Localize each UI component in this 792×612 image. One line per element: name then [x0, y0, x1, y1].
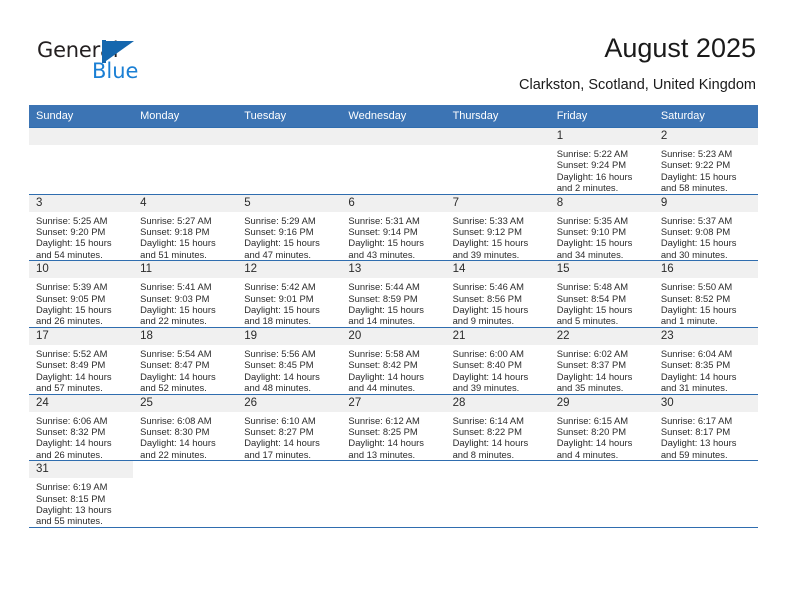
calendar-day-cell[interactable]: 31Sunrise: 6:19 AMSunset: 8:15 PMDayligh… — [29, 461, 133, 528]
calendar-week-row: 31Sunrise: 6:19 AMSunset: 8:15 PMDayligh… — [29, 461, 758, 528]
day-details: Sunrise: 6:15 AMSunset: 8:20 PMDaylight:… — [550, 412, 654, 461]
detail-daylight-line2: and 44 minutes. — [348, 382, 439, 393]
day-number — [133, 128, 237, 145]
calendar-cell-empty — [29, 128, 133, 195]
day-number: 10 — [29, 261, 133, 278]
detail-daylight-line1: Daylight: 14 hours — [36, 371, 127, 382]
calendar-day-cell[interactable]: 18Sunrise: 5:54 AMSunset: 8:47 PMDayligh… — [133, 327, 237, 394]
day-cell-content: 16Sunrise: 5:50 AMSunset: 8:52 PMDayligh… — [654, 261, 758, 327]
day-number: 24 — [29, 395, 133, 412]
detail-sunrise: Sunrise: 6:14 AM — [453, 415, 544, 426]
detail-sunrise: Sunrise: 5:29 AM — [244, 215, 335, 226]
calendar-day-cell[interactable]: 28Sunrise: 6:14 AMSunset: 8:22 PMDayligh… — [446, 394, 550, 461]
detail-daylight-line1: Daylight: 14 hours — [140, 437, 231, 448]
calendar-day-cell[interactable]: 4Sunrise: 5:27 AMSunset: 9:18 PMDaylight… — [133, 194, 237, 261]
calendar-week-row: 17Sunrise: 5:52 AMSunset: 8:49 PMDayligh… — [29, 327, 758, 394]
day-cell-content: 2Sunrise: 5:23 AMSunset: 9:22 PMDaylight… — [654, 128, 758, 194]
calendar-day-cell[interactable]: 20Sunrise: 5:58 AMSunset: 8:42 PMDayligh… — [341, 327, 445, 394]
detail-sunrise: Sunrise: 5:35 AM — [557, 215, 648, 226]
day-number: 14 — [446, 261, 550, 278]
day-number: 28 — [446, 395, 550, 412]
general-blue-logo[interactable]: General Blue — [37, 38, 237, 86]
calendar-body: 1Sunrise: 5:22 AMSunset: 9:24 PMDaylight… — [29, 128, 758, 528]
detail-daylight-line2: and 26 minutes. — [36, 449, 127, 460]
detail-sunset: Sunset: 8:22 PM — [453, 426, 544, 437]
day-details: Sunrise: 5:35 AMSunset: 9:10 PMDaylight:… — [550, 212, 654, 261]
day-number: 19 — [237, 328, 341, 345]
calendar-cell-empty — [446, 461, 550, 528]
calendar-day-cell[interactable]: 3Sunrise: 5:25 AMSunset: 9:20 PMDaylight… — [29, 194, 133, 261]
day-cell-content: 7Sunrise: 5:33 AMSunset: 9:12 PMDaylight… — [446, 195, 550, 261]
calendar-day-cell[interactable]: 1Sunrise: 5:22 AMSunset: 9:24 PMDaylight… — [550, 128, 654, 195]
detail-daylight-line2: and 8 minutes. — [453, 449, 544, 460]
day-cell-content: 25Sunrise: 6:08 AMSunset: 8:30 PMDayligh… — [133, 395, 237, 461]
calendar-cell-empty — [341, 128, 445, 195]
detail-sunrise: Sunrise: 5:22 AM — [557, 148, 648, 159]
detail-sunrise: Sunrise: 5:33 AM — [453, 215, 544, 226]
weekday-header-row: SundayMondayTuesdayWednesdayThursdayFrid… — [29, 105, 758, 128]
detail-daylight-line1: Daylight: 16 hours — [557, 171, 648, 182]
detail-sunrise: Sunrise: 6:19 AM — [36, 481, 127, 492]
detail-sunset: Sunset: 8:59 PM — [348, 293, 439, 304]
detail-daylight-line2: and 54 minutes. — [36, 249, 127, 260]
detail-daylight-line2: and 34 minutes. — [557, 249, 648, 260]
day-cell-content: 11Sunrise: 5:41 AMSunset: 9:03 PMDayligh… — [133, 261, 237, 327]
detail-sunset: Sunset: 8:25 PM — [348, 426, 439, 437]
day-details: Sunrise: 5:37 AMSunset: 9:08 PMDaylight:… — [654, 212, 758, 261]
day-details: Sunrise: 6:14 AMSunset: 8:22 PMDaylight:… — [446, 412, 550, 461]
day-cell-content — [237, 461, 341, 527]
detail-sunset: Sunset: 8:15 PM — [36, 493, 127, 504]
detail-sunset: Sunset: 8:49 PM — [36, 359, 127, 370]
detail-daylight-line1: Daylight: 15 hours — [36, 304, 127, 315]
day-number: 9 — [654, 195, 758, 212]
detail-sunset: Sunset: 8:42 PM — [348, 359, 439, 370]
detail-daylight-line1: Daylight: 14 hours — [557, 437, 648, 448]
day-details: Sunrise: 5:50 AMSunset: 8:52 PMDaylight:… — [654, 278, 758, 327]
detail-sunset: Sunset: 9:08 PM — [661, 226, 752, 237]
detail-sunrise: Sunrise: 6:12 AM — [348, 415, 439, 426]
day-number: 1 — [550, 128, 654, 145]
calendar-day-cell[interactable]: 17Sunrise: 5:52 AMSunset: 8:49 PMDayligh… — [29, 327, 133, 394]
day-details: Sunrise: 5:29 AMSunset: 9:16 PMDaylight:… — [237, 212, 341, 261]
page-title: August 2025 — [604, 33, 756, 64]
day-cell-content: 31Sunrise: 6:19 AMSunset: 8:15 PMDayligh… — [29, 461, 133, 527]
calendar-day-cell[interactable]: 16Sunrise: 5:50 AMSunset: 8:52 PMDayligh… — [654, 261, 758, 328]
day-cell-content: 23Sunrise: 6:04 AMSunset: 8:35 PMDayligh… — [654, 328, 758, 394]
detail-sunrise: Sunrise: 6:10 AM — [244, 415, 335, 426]
detail-daylight-line1: Daylight: 14 hours — [557, 371, 648, 382]
calendar-day-cell[interactable]: 26Sunrise: 6:10 AMSunset: 8:27 PMDayligh… — [237, 394, 341, 461]
day-number: 16 — [654, 261, 758, 278]
day-number: 30 — [654, 395, 758, 412]
detail-sunrise: Sunrise: 5:54 AM — [140, 348, 231, 359]
detail-daylight-line2: and 14 minutes. — [348, 315, 439, 326]
day-details: Sunrise: 5:33 AMSunset: 9:12 PMDaylight:… — [446, 212, 550, 261]
day-cell-content — [446, 461, 550, 527]
detail-sunrise: Sunrise: 5:58 AM — [348, 348, 439, 359]
day-number: 18 — [133, 328, 237, 345]
detail-sunset: Sunset: 9:01 PM — [244, 293, 335, 304]
day-cell-content — [550, 461, 654, 527]
day-details: Sunrise: 5:41 AMSunset: 9:03 PMDaylight:… — [133, 278, 237, 327]
day-cell-content: 17Sunrise: 5:52 AMSunset: 8:49 PMDayligh… — [29, 328, 133, 394]
detail-sunset: Sunset: 9:05 PM — [36, 293, 127, 304]
weekday-header-tuesday: Tuesday — [237, 105, 341, 128]
detail-sunrise: Sunrise: 6:02 AM — [557, 348, 648, 359]
detail-daylight-line1: Daylight: 13 hours — [661, 437, 752, 448]
brand-word-blue: Blue — [92, 59, 138, 83]
calendar-cell-empty — [133, 461, 237, 528]
day-details: Sunrise: 6:12 AMSunset: 8:25 PMDaylight:… — [341, 412, 445, 461]
detail-daylight-line1: Daylight: 15 hours — [244, 304, 335, 315]
day-number — [550, 461, 654, 478]
day-details: Sunrise: 5:39 AMSunset: 9:05 PMDaylight:… — [29, 278, 133, 327]
day-details: Sunrise: 5:42 AMSunset: 9:01 PMDaylight:… — [237, 278, 341, 327]
detail-daylight-line2: and 5 minutes. — [557, 315, 648, 326]
detail-sunset: Sunset: 8:54 PM — [557, 293, 648, 304]
detail-daylight-line2: and 58 minutes. — [661, 182, 752, 193]
day-number: 6 — [341, 195, 445, 212]
detail-daylight-line2: and 2 minutes. — [557, 182, 648, 193]
day-cell-content: 30Sunrise: 6:17 AMSunset: 8:17 PMDayligh… — [654, 395, 758, 461]
calendar-cell-empty — [237, 461, 341, 528]
day-cell-content: 19Sunrise: 5:56 AMSunset: 8:45 PMDayligh… — [237, 328, 341, 394]
calendar-cell-empty — [550, 461, 654, 528]
detail-sunrise: Sunrise: 5:44 AM — [348, 281, 439, 292]
detail-daylight-line2: and 4 minutes. — [557, 449, 648, 460]
calendar-cell-empty — [341, 461, 445, 528]
detail-sunrise: Sunrise: 5:31 AM — [348, 215, 439, 226]
day-number: 26 — [237, 395, 341, 412]
day-cell-content: 22Sunrise: 6:02 AMSunset: 8:37 PMDayligh… — [550, 328, 654, 394]
day-number: 3 — [29, 195, 133, 212]
day-details: Sunrise: 6:08 AMSunset: 8:30 PMDaylight:… — [133, 412, 237, 461]
detail-sunrise: Sunrise: 6:15 AM — [557, 415, 648, 426]
detail-daylight-line1: Daylight: 14 hours — [453, 437, 544, 448]
day-details: Sunrise: 6:06 AMSunset: 8:32 PMDaylight:… — [29, 412, 133, 461]
calendar-day-cell[interactable]: 11Sunrise: 5:41 AMSunset: 9:03 PMDayligh… — [133, 261, 237, 328]
location-subtitle: Clarkston, Scotland, United Kingdom — [519, 77, 756, 93]
day-number: 5 — [237, 195, 341, 212]
day-number: 27 — [341, 395, 445, 412]
detail-sunset: Sunset: 8:37 PM — [557, 359, 648, 370]
day-number: 21 — [446, 328, 550, 345]
day-number: 23 — [654, 328, 758, 345]
detail-daylight-line2: and 52 minutes. — [140, 382, 231, 393]
detail-sunrise: Sunrise: 5:25 AM — [36, 215, 127, 226]
day-cell-content: 24Sunrise: 6:06 AMSunset: 8:32 PMDayligh… — [29, 395, 133, 461]
day-cell-content — [654, 461, 758, 527]
detail-daylight-line1: Daylight: 15 hours — [36, 237, 127, 248]
day-cell-content — [133, 461, 237, 527]
weekday-header-monday: Monday — [133, 105, 237, 128]
detail-daylight-line1: Daylight: 15 hours — [140, 304, 231, 315]
weekday-header-friday: Friday — [550, 105, 654, 128]
detail-daylight-line1: Daylight: 15 hours — [244, 237, 335, 248]
detail-daylight-line1: Daylight: 14 hours — [140, 371, 231, 382]
detail-daylight-line2: and 1 minute. — [661, 315, 752, 326]
detail-daylight-line1: Daylight: 15 hours — [557, 304, 648, 315]
detail-daylight-line2: and 35 minutes. — [557, 382, 648, 393]
calendar-week-row: 3Sunrise: 5:25 AMSunset: 9:20 PMDaylight… — [29, 194, 758, 261]
calendar-day-cell[interactable]: 24Sunrise: 6:06 AMSunset: 8:32 PMDayligh… — [29, 394, 133, 461]
detail-daylight-line1: Daylight: 15 hours — [661, 237, 752, 248]
calendar-day-cell[interactable]: 23Sunrise: 6:04 AMSunset: 8:35 PMDayligh… — [654, 327, 758, 394]
day-details: Sunrise: 5:31 AMSunset: 9:14 PMDaylight:… — [341, 212, 445, 261]
detail-sunset: Sunset: 9:03 PM — [140, 293, 231, 304]
detail-sunset: Sunset: 8:32 PM — [36, 426, 127, 437]
detail-daylight-line2: and 47 minutes. — [244, 249, 335, 260]
day-cell-content: 5Sunrise: 5:29 AMSunset: 9:16 PMDaylight… — [237, 195, 341, 261]
detail-daylight-line1: Daylight: 15 hours — [348, 237, 439, 248]
detail-sunset: Sunset: 8:40 PM — [453, 359, 544, 370]
detail-daylight-line2: and 39 minutes. — [453, 249, 544, 260]
day-number — [654, 461, 758, 478]
day-details: Sunrise: 5:48 AMSunset: 8:54 PMDaylight:… — [550, 278, 654, 327]
day-cell-content — [341, 128, 445, 194]
detail-sunset: Sunset: 9:18 PM — [140, 226, 231, 237]
weekday-header-wednesday: Wednesday — [341, 105, 445, 128]
detail-daylight-line2: and 26 minutes. — [36, 315, 127, 326]
day-cell-content: 6Sunrise: 5:31 AMSunset: 9:14 PMDaylight… — [341, 195, 445, 261]
day-number — [237, 128, 341, 145]
day-number — [237, 461, 341, 478]
day-details: Sunrise: 6:19 AMSunset: 8:15 PMDaylight:… — [29, 478, 133, 527]
calendar-day-cell[interactable]: 22Sunrise: 6:02 AMSunset: 8:37 PMDayligh… — [550, 327, 654, 394]
detail-daylight-line2: and 22 minutes. — [140, 315, 231, 326]
detail-daylight-line2: and 13 minutes. — [348, 449, 439, 460]
detail-sunrise: Sunrise: 5:42 AM — [244, 281, 335, 292]
detail-daylight-line1: Daylight: 14 hours — [348, 437, 439, 448]
detail-sunset: Sunset: 8:52 PM — [661, 293, 752, 304]
day-number — [341, 128, 445, 145]
detail-sunrise: Sunrise: 5:52 AM — [36, 348, 127, 359]
day-number — [341, 461, 445, 478]
day-number: 11 — [133, 261, 237, 278]
calendar-day-cell[interactable]: 19Sunrise: 5:56 AMSunset: 8:45 PMDayligh… — [237, 327, 341, 394]
detail-daylight-line1: Daylight: 15 hours — [661, 304, 752, 315]
detail-daylight-line1: Daylight: 14 hours — [36, 437, 127, 448]
day-cell-content: 3Sunrise: 5:25 AMSunset: 9:20 PMDaylight… — [29, 195, 133, 261]
day-details: Sunrise: 5:46 AMSunset: 8:56 PMDaylight:… — [446, 278, 550, 327]
day-number: 31 — [29, 461, 133, 478]
day-number: 4 — [133, 195, 237, 212]
day-details: Sunrise: 6:02 AMSunset: 8:37 PMDaylight:… — [550, 345, 654, 394]
calendar-day-cell[interactable]: 25Sunrise: 6:08 AMSunset: 8:30 PMDayligh… — [133, 394, 237, 461]
detail-sunrise: Sunrise: 5:37 AM — [661, 215, 752, 226]
detail-daylight-line2: and 22 minutes. — [140, 449, 231, 460]
detail-sunset: Sunset: 8:27 PM — [244, 426, 335, 437]
day-cell-content: 21Sunrise: 6:00 AMSunset: 8:40 PMDayligh… — [446, 328, 550, 394]
detail-sunrise: Sunrise: 5:41 AM — [140, 281, 231, 292]
detail-sunrise: Sunrise: 6:06 AM — [36, 415, 127, 426]
detail-daylight-line2: and 59 minutes. — [661, 449, 752, 460]
day-cell-content — [446, 128, 550, 194]
flag-triangle-shape — [106, 41, 134, 61]
detail-daylight-line1: Daylight: 14 hours — [453, 371, 544, 382]
calendar-day-cell[interactable]: 2Sunrise: 5:23 AMSunset: 9:22 PMDaylight… — [654, 128, 758, 195]
day-cell-content: 10Sunrise: 5:39 AMSunset: 9:05 PMDayligh… — [29, 261, 133, 327]
day-number: 8 — [550, 195, 654, 212]
detail-daylight-line2: and 51 minutes. — [140, 249, 231, 260]
calendar-day-cell[interactable]: 21Sunrise: 6:00 AMSunset: 8:40 PMDayligh… — [446, 327, 550, 394]
day-number — [133, 461, 237, 478]
day-cell-content: 26Sunrise: 6:10 AMSunset: 8:27 PMDayligh… — [237, 395, 341, 461]
day-cell-content: 12Sunrise: 5:42 AMSunset: 9:01 PMDayligh… — [237, 261, 341, 327]
day-cell-content: 27Sunrise: 6:12 AMSunset: 8:25 PMDayligh… — [341, 395, 445, 461]
detail-sunrise: Sunrise: 5:27 AM — [140, 215, 231, 226]
calendar-day-cell[interactable]: 29Sunrise: 6:15 AMSunset: 8:20 PMDayligh… — [550, 394, 654, 461]
day-number: 12 — [237, 261, 341, 278]
day-cell-content: 28Sunrise: 6:14 AMSunset: 8:22 PMDayligh… — [446, 395, 550, 461]
day-cell-content: 18Sunrise: 5:54 AMSunset: 8:47 PMDayligh… — [133, 328, 237, 394]
calendar-day-cell[interactable]: 10Sunrise: 5:39 AMSunset: 9:05 PMDayligh… — [29, 261, 133, 328]
detail-sunrise: Sunrise: 5:50 AM — [661, 281, 752, 292]
day-cell-content: 1Sunrise: 5:22 AMSunset: 9:24 PMDaylight… — [550, 128, 654, 194]
calendar-day-cell[interactable]: 30Sunrise: 6:17 AMSunset: 8:17 PMDayligh… — [654, 394, 758, 461]
calendar-day-cell[interactable]: 9Sunrise: 5:37 AMSunset: 9:08 PMDaylight… — [654, 194, 758, 261]
day-details: Sunrise: 5:58 AMSunset: 8:42 PMDaylight:… — [341, 345, 445, 394]
detail-sunrise: Sunrise: 5:46 AM — [453, 281, 544, 292]
day-cell-content: 13Sunrise: 5:44 AMSunset: 8:59 PMDayligh… — [341, 261, 445, 327]
detail-daylight-line2: and 30 minutes. — [661, 249, 752, 260]
calendar-day-cell[interactable]: 6Sunrise: 5:31 AMSunset: 9:14 PMDaylight… — [341, 194, 445, 261]
calendar-week-row: 24Sunrise: 6:06 AMSunset: 8:32 PMDayligh… — [29, 394, 758, 461]
calendar-day-cell[interactable]: 7Sunrise: 5:33 AMSunset: 9:12 PMDaylight… — [446, 194, 550, 261]
calendar-cell-empty — [237, 128, 341, 195]
detail-sunrise: Sunrise: 6:00 AM — [453, 348, 544, 359]
day-details: Sunrise: 5:54 AMSunset: 8:47 PMDaylight:… — [133, 345, 237, 394]
calendar-day-cell[interactable]: 12Sunrise: 5:42 AMSunset: 9:01 PMDayligh… — [237, 261, 341, 328]
calendar-week-row: 10Sunrise: 5:39 AMSunset: 9:05 PMDayligh… — [29, 261, 758, 328]
detail-daylight-line2: and 43 minutes. — [348, 249, 439, 260]
calendar-cell-empty — [654, 461, 758, 528]
detail-daylight-line1: Daylight: 15 hours — [661, 171, 752, 182]
weekday-header-sunday: Sunday — [29, 105, 133, 128]
detail-daylight-line1: Daylight: 15 hours — [348, 304, 439, 315]
day-cell-content — [237, 128, 341, 194]
day-details: Sunrise: 5:25 AMSunset: 9:20 PMDaylight:… — [29, 212, 133, 261]
detail-sunrise: Sunrise: 6:04 AM — [661, 348, 752, 359]
detail-daylight-line2: and 17 minutes. — [244, 449, 335, 460]
day-cell-content: 4Sunrise: 5:27 AMSunset: 9:18 PMDaylight… — [133, 195, 237, 261]
weekday-header-thursday: Thursday — [446, 105, 550, 128]
detail-daylight-line2: and 31 minutes. — [661, 382, 752, 393]
calendar-day-cell[interactable]: 14Sunrise: 5:46 AMSunset: 8:56 PMDayligh… — [446, 261, 550, 328]
detail-sunset: Sunset: 9:22 PM — [661, 159, 752, 170]
day-cell-content: 14Sunrise: 5:46 AMSunset: 8:56 PMDayligh… — [446, 261, 550, 327]
day-cell-content — [133, 128, 237, 194]
detail-sunset: Sunset: 9:16 PM — [244, 226, 335, 237]
day-cell-content — [29, 128, 133, 194]
detail-sunset: Sunset: 8:20 PM — [557, 426, 648, 437]
day-number: 25 — [133, 395, 237, 412]
day-number: 13 — [341, 261, 445, 278]
day-details: Sunrise: 5:56 AMSunset: 8:45 PMDaylight:… — [237, 345, 341, 394]
calendar-day-cell[interactable]: 27Sunrise: 6:12 AMSunset: 8:25 PMDayligh… — [341, 394, 445, 461]
day-cell-content: 9Sunrise: 5:37 AMSunset: 9:08 PMDaylight… — [654, 195, 758, 261]
day-details: Sunrise: 5:27 AMSunset: 9:18 PMDaylight:… — [133, 212, 237, 261]
calendar-day-cell[interactable]: 15Sunrise: 5:48 AMSunset: 8:54 PMDayligh… — [550, 261, 654, 328]
day-number: 15 — [550, 261, 654, 278]
day-cell-content: 29Sunrise: 6:15 AMSunset: 8:20 PMDayligh… — [550, 395, 654, 461]
calendar-day-cell[interactable]: 5Sunrise: 5:29 AMSunset: 9:16 PMDaylight… — [237, 194, 341, 261]
day-number: 22 — [550, 328, 654, 345]
day-number — [446, 461, 550, 478]
detail-sunset: Sunset: 9:20 PM — [36, 226, 127, 237]
detail-sunset: Sunset: 9:14 PM — [348, 226, 439, 237]
day-cell-content: 20Sunrise: 5:58 AMSunset: 8:42 PMDayligh… — [341, 328, 445, 394]
day-number: 17 — [29, 328, 133, 345]
day-number: 7 — [446, 195, 550, 212]
day-number: 29 — [550, 395, 654, 412]
detail-daylight-line1: Daylight: 14 hours — [661, 371, 752, 382]
detail-sunset: Sunset: 8:17 PM — [661, 426, 752, 437]
detail-daylight-line1: Daylight: 14 hours — [244, 437, 335, 448]
day-number — [446, 128, 550, 145]
detail-sunrise: Sunrise: 5:48 AM — [557, 281, 648, 292]
detail-daylight-line1: Daylight: 13 hours — [36, 504, 127, 515]
detail-sunset: Sunset: 8:30 PM — [140, 426, 231, 437]
detail-daylight-line2: and 48 minutes. — [244, 382, 335, 393]
detail-sunrise: Sunrise: 5:56 AM — [244, 348, 335, 359]
detail-daylight-line2: and 9 minutes. — [453, 315, 544, 326]
detail-daylight-line1: Daylight: 15 hours — [453, 304, 544, 315]
detail-sunset: Sunset: 8:47 PM — [140, 359, 231, 370]
detail-daylight-line2: and 55 minutes. — [36, 515, 127, 526]
day-details: Sunrise: 6:10 AMSunset: 8:27 PMDaylight:… — [237, 412, 341, 461]
detail-sunset: Sunset: 9:24 PM — [557, 159, 648, 170]
detail-sunset: Sunset: 9:12 PM — [453, 226, 544, 237]
sunrise-sunset-calendar: SundayMondayTuesdayWednesdayThursdayFrid… — [29, 105, 758, 528]
day-details: Sunrise: 5:22 AMSunset: 9:24 PMDaylight:… — [550, 145, 654, 194]
day-details: Sunrise: 5:23 AMSunset: 9:22 PMDaylight:… — [654, 145, 758, 194]
detail-daylight-line2: and 57 minutes. — [36, 382, 127, 393]
detail-daylight-line1: Daylight: 14 hours — [348, 371, 439, 382]
day-details: Sunrise: 5:44 AMSunset: 8:59 PMDaylight:… — [341, 278, 445, 327]
calendar-cell-empty — [133, 128, 237, 195]
detail-daylight-line2: and 39 minutes. — [453, 382, 544, 393]
detail-sunset: Sunset: 8:35 PM — [661, 359, 752, 370]
detail-sunrise: Sunrise: 6:08 AM — [140, 415, 231, 426]
calendar-week-row: 1Sunrise: 5:22 AMSunset: 9:24 PMDaylight… — [29, 128, 758, 195]
detail-sunrise: Sunrise: 6:17 AM — [661, 415, 752, 426]
detail-sunrise: Sunrise: 5:39 AM — [36, 281, 127, 292]
detail-daylight-line1: Daylight: 14 hours — [244, 371, 335, 382]
calendar-day-cell[interactable]: 8Sunrise: 5:35 AMSunset: 9:10 PMDaylight… — [550, 194, 654, 261]
day-details: Sunrise: 5:52 AMSunset: 8:49 PMDaylight:… — [29, 345, 133, 394]
day-number: 20 — [341, 328, 445, 345]
page-header: General Blue August 2025 Clarkston, Scot… — [0, 0, 792, 100]
day-details: Sunrise: 6:17 AMSunset: 8:17 PMDaylight:… — [654, 412, 758, 461]
day-cell-content: 8Sunrise: 5:35 AMSunset: 9:10 PMDaylight… — [550, 195, 654, 261]
calendar-cell-empty — [446, 128, 550, 195]
detail-daylight-line2: and 18 minutes. — [244, 315, 335, 326]
detail-daylight-line1: Daylight: 15 hours — [557, 237, 648, 248]
weekday-header-saturday: Saturday — [654, 105, 758, 128]
detail-daylight-line1: Daylight: 15 hours — [140, 237, 231, 248]
day-cell-content — [341, 461, 445, 527]
detail-sunset: Sunset: 8:56 PM — [453, 293, 544, 304]
day-number: 2 — [654, 128, 758, 145]
day-details: Sunrise: 6:04 AMSunset: 8:35 PMDaylight:… — [654, 345, 758, 394]
detail-sunrise: Sunrise: 5:23 AM — [661, 148, 752, 159]
calendar-day-cell[interactable]: 13Sunrise: 5:44 AMSunset: 8:59 PMDayligh… — [341, 261, 445, 328]
detail-sunset: Sunset: 9:10 PM — [557, 226, 648, 237]
day-details: Sunrise: 6:00 AMSunset: 8:40 PMDaylight:… — [446, 345, 550, 394]
day-number — [29, 128, 133, 145]
